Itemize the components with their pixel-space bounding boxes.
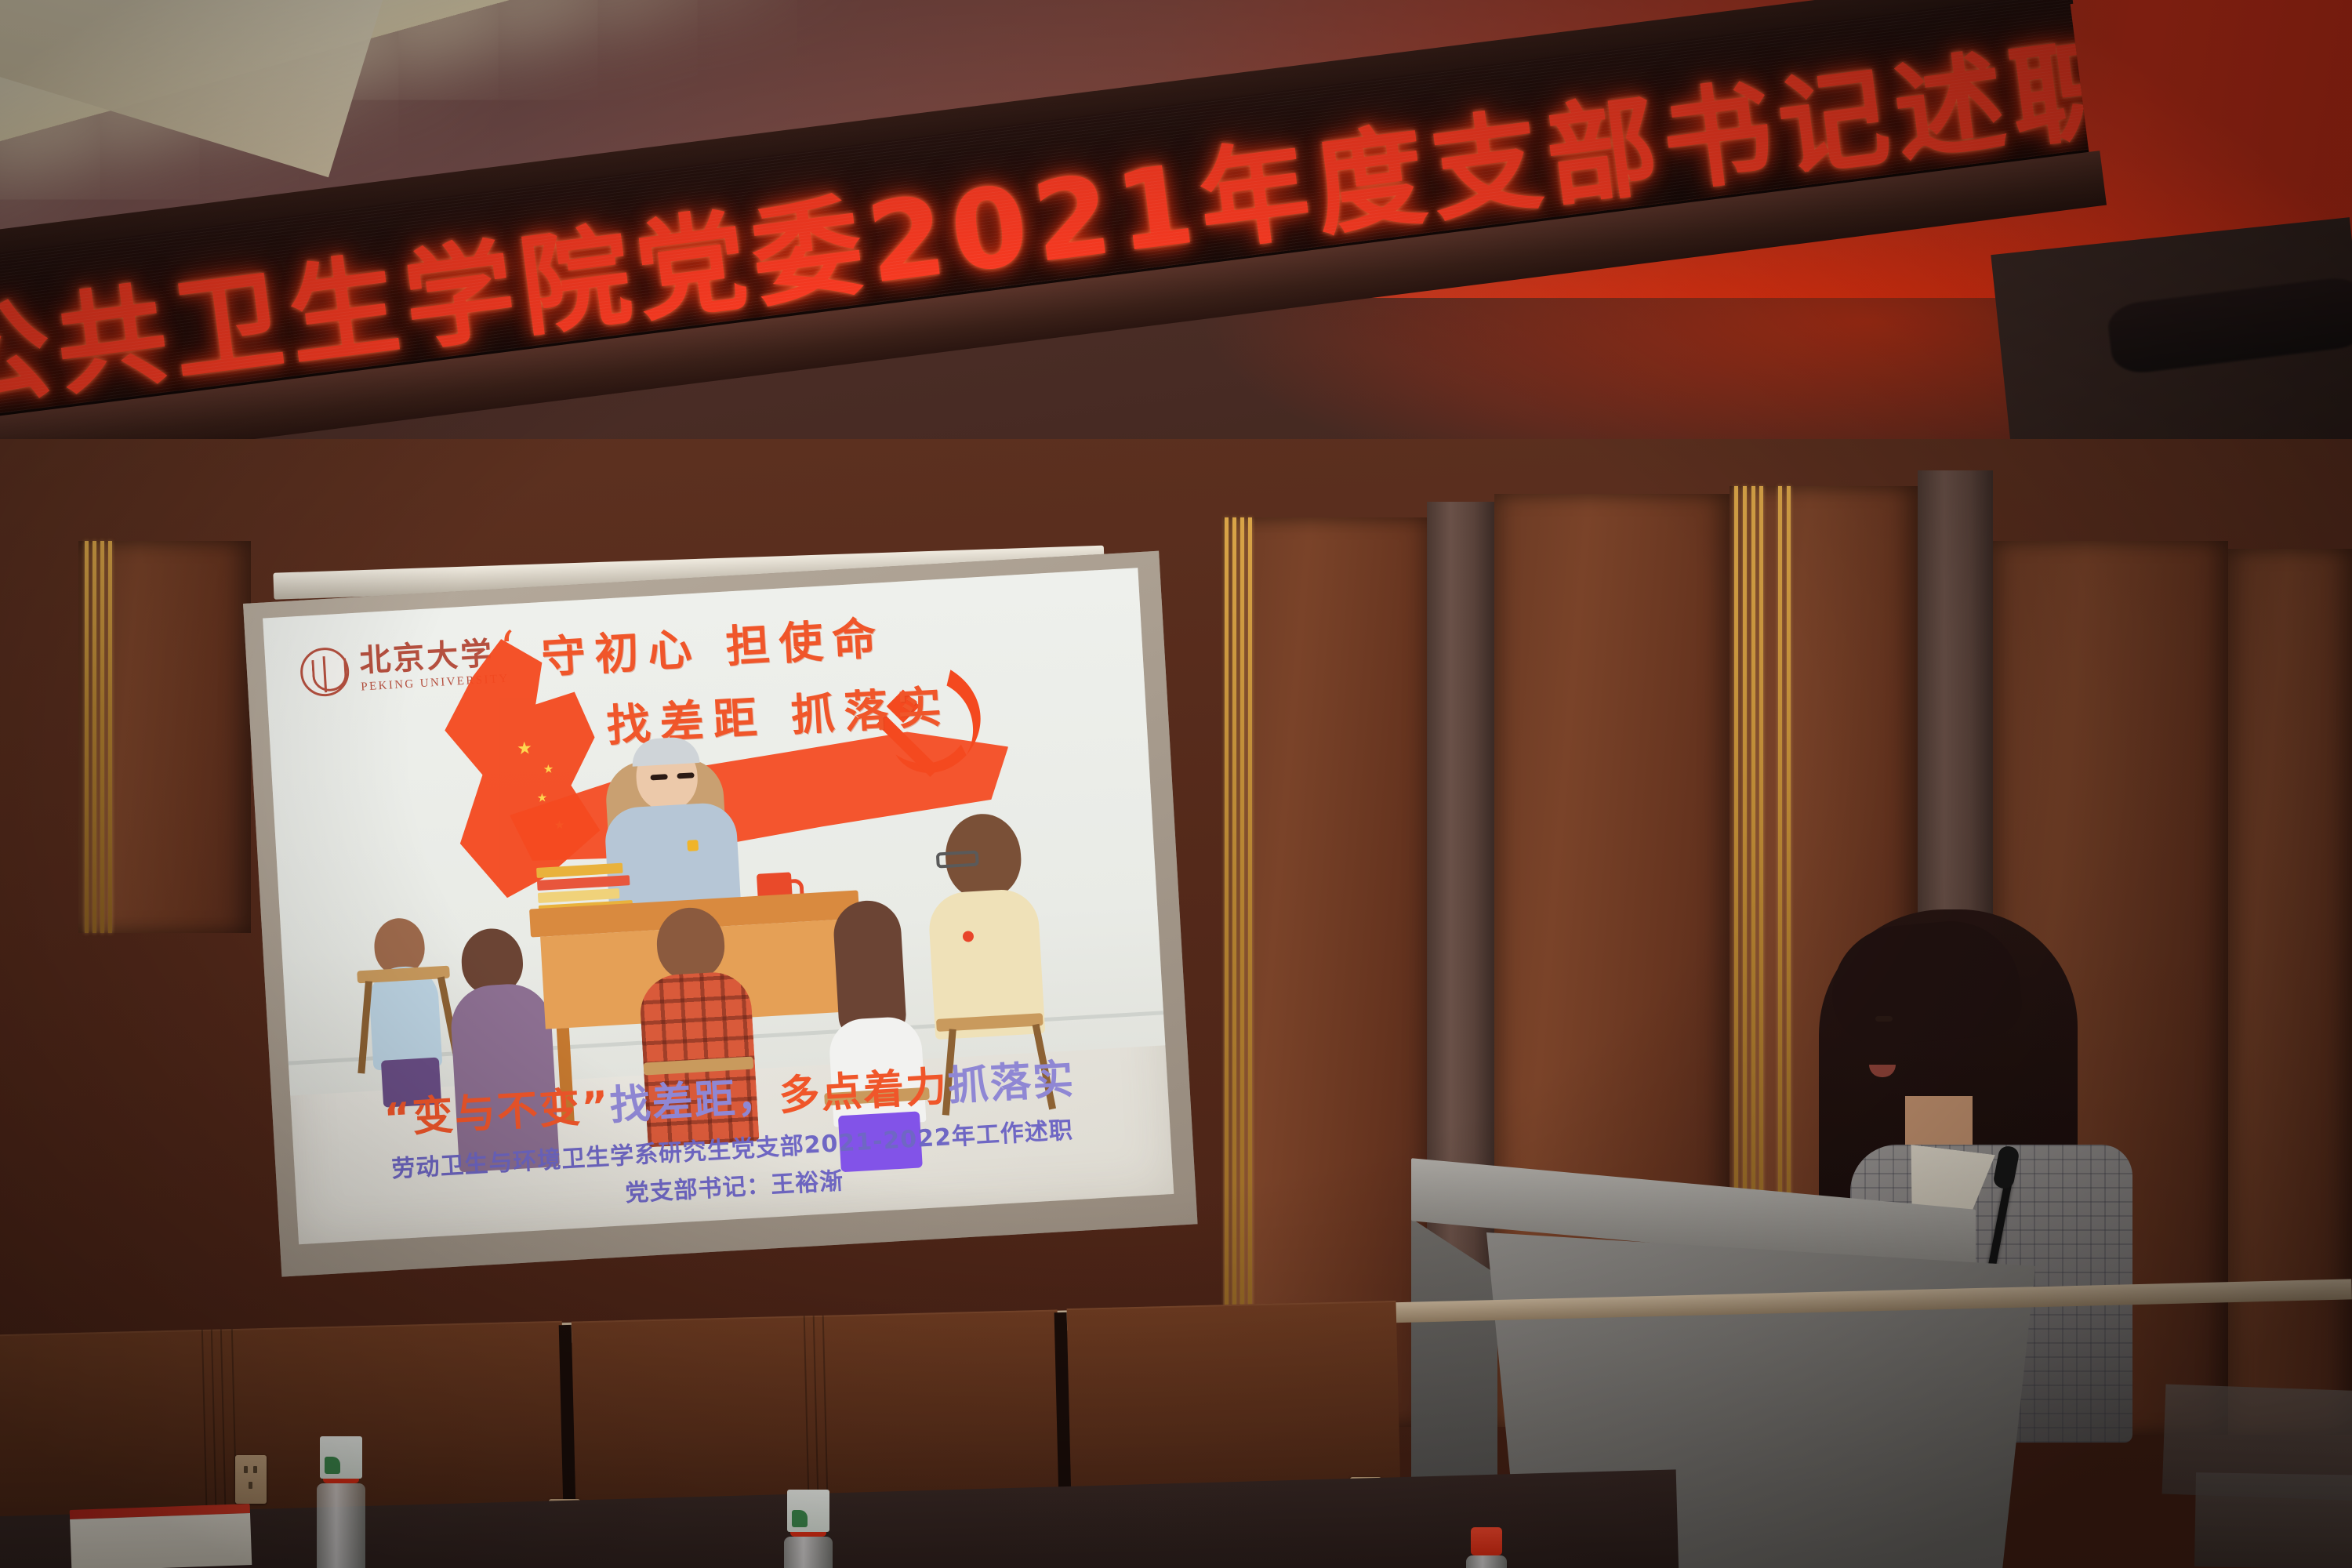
presenter-eye (1875, 1016, 1893, 1022)
side-table (2194, 1472, 2352, 1568)
screen-border: 北京大学 PEKING UNIVERSITY ★ ★ ★ ★ (243, 551, 1198, 1277)
slide-illustration: 北京大学 PEKING UNIVERSITY ★ ★ ★ ★ (263, 568, 1165, 1095)
bottle-body (1466, 1555, 1507, 1568)
name-card-face (70, 1513, 252, 1568)
presentation-slide: 北京大学 PEKING UNIVERSITY ★ ★ ★ ★ (263, 568, 1174, 1244)
bottle-label (320, 1436, 362, 1479)
wall-power-outlet[interactable] (235, 1455, 267, 1504)
slide-title-part2: 找差距， (608, 1073, 780, 1130)
wall-pier (1223, 517, 1435, 1427)
slide-title-part4: 抓落实 (946, 1056, 1076, 1110)
slide-title-part3: 多点着力 (778, 1063, 949, 1120)
water-bottle[interactable] (1466, 1527, 1507, 1555)
table-name-card[interactable] (70, 1504, 252, 1568)
bottle-body (317, 1483, 365, 1568)
wall-pier-left (78, 541, 251, 933)
pku-seal-icon (299, 646, 350, 697)
projection-screen: 北京大学 PEKING UNIVERSITY ★ ★ ★ ★ (243, 551, 1200, 1308)
slide-title-part1: “变与不变” (383, 1083, 611, 1142)
bottle-cap (1471, 1527, 1502, 1555)
quote-mark-decor: ‘ (499, 621, 517, 677)
water-bottle[interactable] (784, 1504, 833, 1537)
bottle-body (784, 1537, 833, 1568)
water-bottle[interactable] (317, 1450, 365, 1483)
conference-hall-scene: 学公共卫生学院党委2021年度支部书记述职考评会 北京大 (0, 0, 2352, 1568)
slide-calligraphy-line1: 守初心 担使命 (539, 603, 887, 686)
bottle-label (787, 1490, 829, 1532)
